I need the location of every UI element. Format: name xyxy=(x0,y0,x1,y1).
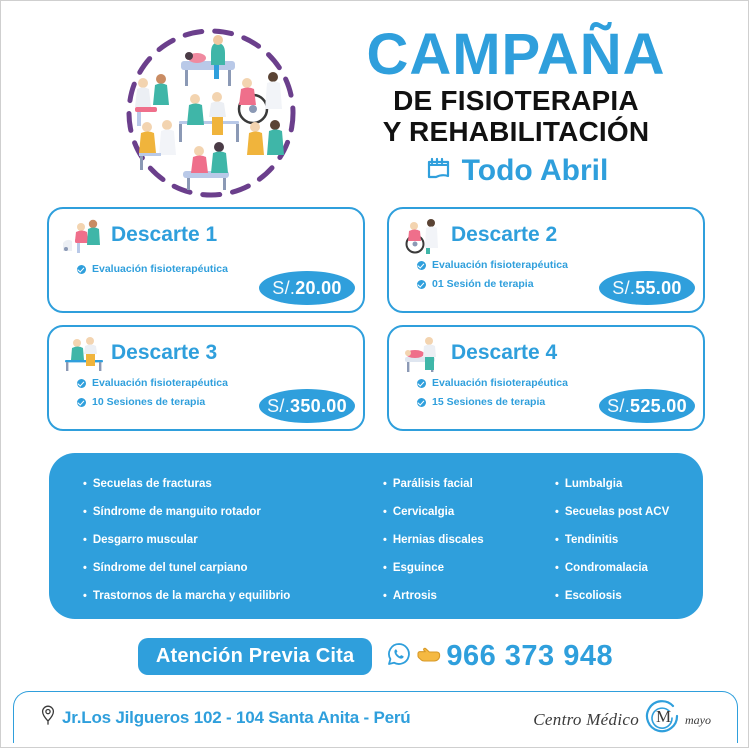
list-item: •Síndrome del tunel carpiano xyxy=(83,561,383,575)
check-icon xyxy=(77,265,86,274)
list-item: •Condromalacia xyxy=(555,561,703,575)
feature-label: 10 Sesiones de terapia xyxy=(92,394,205,410)
card-feature-list: Evaluación fisioterapéutica 15 Sesiones … xyxy=(417,375,568,413)
footer: Jr.Los Jilgueros 102 - 104 Santa Anita -… xyxy=(13,691,738,743)
conditions-panel: •Secuelas de fracturas •Síndrome de mang… xyxy=(49,453,703,619)
card-feature-list: Evaluación fisioterapéutica xyxy=(77,261,228,280)
package-card-4[interactable]: Descarte 4 Evaluación fisioterapéutica 1… xyxy=(387,325,705,431)
list-item: •Artrosis xyxy=(383,589,555,603)
check-icon xyxy=(77,398,86,407)
price-amount: 525.00 xyxy=(630,396,687,417)
wheelchair-patient-illustration xyxy=(401,215,447,255)
address-label: Jr.Los Jilgueros 102 - 104 Santa Anita -… xyxy=(62,708,410,728)
price-badge: S/.525.00 xyxy=(599,389,695,423)
price-amount: 55.00 xyxy=(635,278,682,299)
package-card-2[interactable]: Descarte 2 Evaluación fisioterapéutica 0… xyxy=(387,207,705,313)
condition-label: Desgarro muscular xyxy=(93,533,198,547)
list-item: 01 Sesión de terapia xyxy=(417,276,568,292)
list-item: Evaluación fisioterapéutica xyxy=(417,375,568,391)
appointment-button[interactable]: Atención Previa Cita xyxy=(138,638,373,675)
bullet-icon: • xyxy=(83,477,87,491)
price-badge: S/.350.00 xyxy=(259,389,355,423)
feature-label: 01 Sesión de terapia xyxy=(432,276,534,292)
condition-label: Lumbalgia xyxy=(565,477,623,491)
condition-label: Hernias discales xyxy=(393,533,484,547)
price-amount: 20.00 xyxy=(295,278,342,299)
bullet-icon: • xyxy=(383,533,387,547)
feature-label: Evaluación fisioterapéutica xyxy=(92,375,228,391)
massage-table-illustration xyxy=(401,333,447,373)
card-header: Descarte 1 xyxy=(61,215,217,255)
feature-label: 15 Sesiones de terapia xyxy=(432,394,545,410)
card-title: Descarte 3 xyxy=(111,341,217,365)
condition-label: Tendinitis xyxy=(565,533,618,547)
bullet-icon: • xyxy=(555,505,559,519)
logo-mark-icon: M xyxy=(639,700,683,740)
price-badge: S/.55.00 xyxy=(599,271,695,305)
list-item: •Tendinitis xyxy=(555,533,703,547)
check-icon xyxy=(417,379,426,388)
list-item: •Secuelas post ACV xyxy=(555,505,703,519)
card-title: Descarte 4 xyxy=(451,341,557,365)
feature-label: Evaluación fisioterapéutica xyxy=(432,375,568,391)
list-item: •Lumbalgia xyxy=(555,477,703,491)
check-icon xyxy=(417,280,426,289)
condition-label: Síndrome del tunel carpiano xyxy=(93,561,248,575)
condition-label: Parálisis facial xyxy=(393,477,473,491)
condition-label: Condromalacia xyxy=(565,561,648,575)
list-item: Evaluación fisioterapéutica xyxy=(77,375,228,391)
list-item: 15 Sesiones de terapia xyxy=(417,394,568,410)
bullet-icon: • xyxy=(383,477,387,491)
page-subtitle-line1: DE FISIOTERAPIA xyxy=(301,85,731,116)
list-item: •Cervicalgia xyxy=(383,505,555,519)
list-item: •Desgarro muscular xyxy=(83,533,383,547)
bullet-icon: • xyxy=(83,533,87,547)
bullet-icon: • xyxy=(383,505,387,519)
page-title: CAMPAÑA xyxy=(301,25,731,85)
list-item: •Síndrome de manguito rotador xyxy=(83,505,383,519)
list-item: •Escoliosis xyxy=(555,589,703,603)
package-card-1[interactable]: Descarte 1 Evaluación fisioterapéutica S… xyxy=(47,207,365,313)
list-item: •Hernias discales xyxy=(383,533,555,547)
conditions-column-2: •Parálisis facial •Cervicalgia •Hernias … xyxy=(383,477,555,601)
currency-symbol: S/. xyxy=(272,278,295,299)
card-title: Descarte 2 xyxy=(451,223,557,247)
price-badge: S/.20.00 xyxy=(259,271,355,305)
bullet-icon: • xyxy=(555,561,559,575)
bullet-icon: • xyxy=(83,589,87,603)
list-item: •Parálisis facial xyxy=(383,477,555,491)
condition-label: Secuelas de fracturas xyxy=(93,477,212,491)
title-block: CAMPAÑA DE FISIOTERAPIA Y REHABILITACIÓN… xyxy=(301,25,731,188)
condition-label: Esguince xyxy=(393,561,444,575)
feature-label: Evaluación fisioterapéutica xyxy=(92,261,228,277)
bullet-icon: • xyxy=(383,589,387,603)
list-item: Evaluación fisioterapéutica xyxy=(77,261,228,277)
bullet-icon: • xyxy=(83,505,87,519)
page-subtitle-line2: Y REHABILITACIÓN xyxy=(301,116,731,147)
logo-subtext: mayo xyxy=(685,713,711,728)
physiotherapy-collage-illustration xyxy=(113,23,309,203)
condition-label: Escoliosis xyxy=(565,589,622,603)
list-item: Evaluación fisioterapéutica xyxy=(417,257,568,273)
cta-bar: Atención Previa Cita 966 373 948 xyxy=(1,631,749,681)
list-item: •Secuelas de fracturas xyxy=(83,477,383,491)
calendar-icon xyxy=(424,153,454,188)
svg-text:M: M xyxy=(656,707,671,726)
whatsapp-icon[interactable] xyxy=(386,641,412,672)
month-badge: Todo Abril xyxy=(301,153,731,188)
bullet-icon: • xyxy=(555,589,559,603)
address-block: Jr.Los Jilgueros 102 - 104 Santa Anita -… xyxy=(40,705,410,730)
check-icon xyxy=(77,379,86,388)
price-amount: 350.00 xyxy=(290,396,347,417)
card-feature-list: Evaluación fisioterapéutica 01 Sesión de… xyxy=(417,257,568,295)
check-icon xyxy=(417,261,426,270)
therapy-session-illustration xyxy=(61,215,107,255)
location-pin-icon xyxy=(40,705,56,730)
month-label: Todo Abril xyxy=(462,154,609,188)
list-item: •Esguince xyxy=(383,561,555,575)
currency-symbol: S/. xyxy=(607,396,630,417)
phone-number[interactable]: 966 373 948 xyxy=(446,640,613,673)
card-header: Descarte 2 xyxy=(401,215,557,255)
package-card-3[interactable]: Descarte 3 Evaluación fisioterapéutica 1… xyxy=(47,325,365,431)
card-header: Descarte 4 xyxy=(401,333,557,373)
conditions-column-1: •Secuelas de fracturas •Síndrome de mang… xyxy=(49,477,383,601)
bullet-icon: • xyxy=(555,477,559,491)
pointing-hand-icon xyxy=(415,642,443,671)
bullet-icon: • xyxy=(83,561,87,575)
flyer-page: CAMPAÑA DE FISIOTERAPIA Y REHABILITACIÓN… xyxy=(0,0,749,748)
condition-label: Secuelas post ACV xyxy=(565,505,669,519)
currency-symbol: S/. xyxy=(267,396,290,417)
header: CAMPAÑA DE FISIOTERAPIA Y REHABILITACIÓN… xyxy=(1,9,749,204)
condition-label: Artrosis xyxy=(393,589,437,603)
feature-label: Evaluación fisioterapéutica xyxy=(432,257,568,273)
condition-label: Síndrome de manguito rotador xyxy=(93,505,261,519)
card-header: Descarte 3 xyxy=(61,333,217,373)
list-item: •Trastornos de la marcha y equilibrio xyxy=(83,589,383,603)
bullet-icon: • xyxy=(383,561,387,575)
centro-medico-mayo-logo: Centro Médico M mayo xyxy=(533,700,711,740)
logo-text: Centro Médico xyxy=(533,710,639,730)
condition-label: Trastornos de la marcha y equilibrio xyxy=(93,589,290,603)
card-title: Descarte 1 xyxy=(111,223,217,247)
contact-block[interactable]: 966 373 948 xyxy=(386,640,613,673)
conditions-column-3: •Lumbalgia •Secuelas post ACV •Tendiniti… xyxy=(555,477,703,601)
currency-symbol: S/. xyxy=(612,278,635,299)
parallel-bars-walking-illustration xyxy=(61,333,107,373)
card-feature-list: Evaluación fisioterapéutica 10 Sesiones … xyxy=(77,375,228,413)
condition-label: Cervicalgia xyxy=(393,505,454,519)
bullet-icon: • xyxy=(555,533,559,547)
check-icon xyxy=(417,398,426,407)
package-cards: Descarte 1 Evaluación fisioterapéutica S… xyxy=(47,207,707,439)
list-item: 10 Sesiones de terapia xyxy=(77,394,228,410)
